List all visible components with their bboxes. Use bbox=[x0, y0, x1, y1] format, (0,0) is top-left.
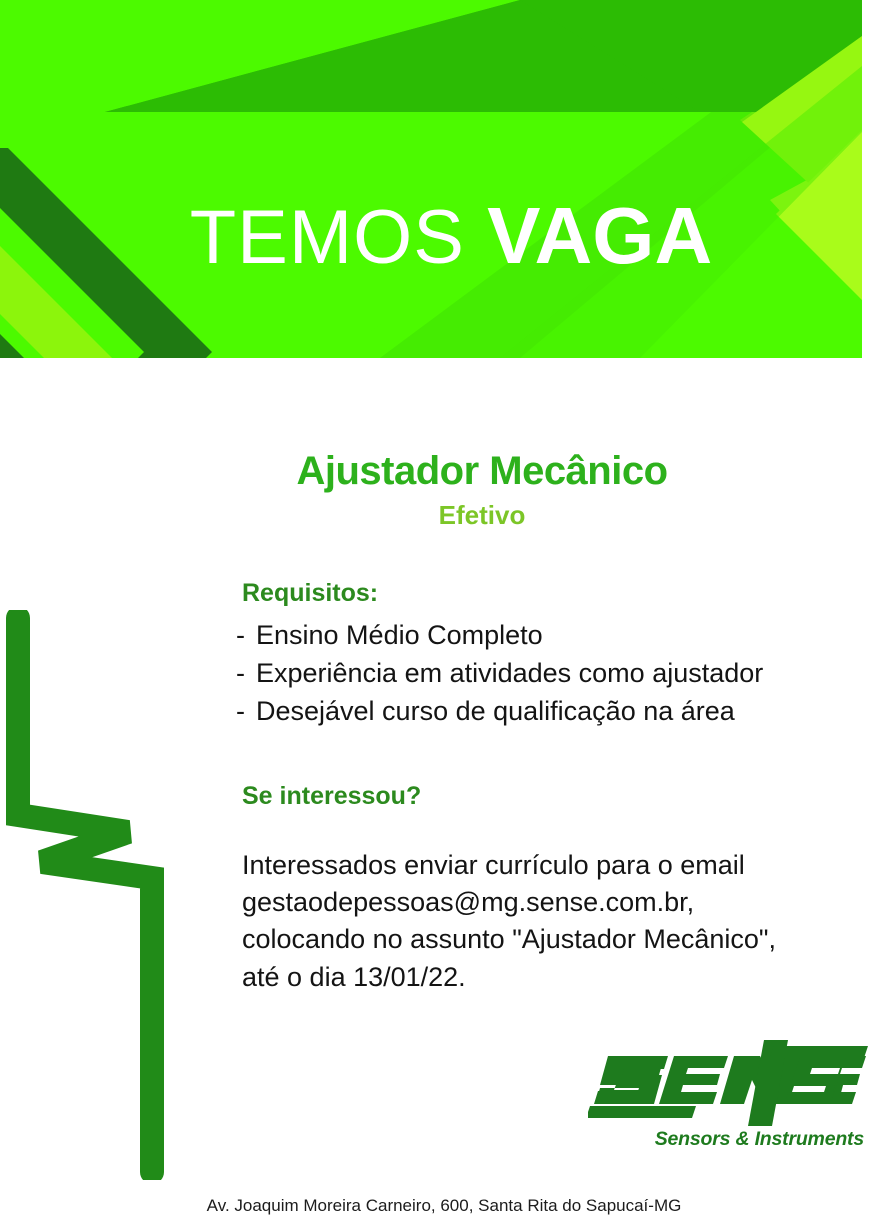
poster-content: Ajustador Mecânico Efetivo Requisitos: -… bbox=[236, 450, 888, 996]
header-geometric-background bbox=[0, 0, 862, 358]
headline-vaga: VAGA bbox=[487, 191, 712, 280]
footer-address: Av. Joaquim Moreira Carneiro, 600, Santa… bbox=[0, 1196, 888, 1216]
interest-heading: Se interessou? bbox=[236, 781, 888, 811]
sense-wordmark-icon bbox=[588, 1040, 868, 1126]
contact-email-line[interactable]: gestaodepessoas@mg.sense.com.br, bbox=[242, 884, 888, 921]
bullet-dash-icon: - bbox=[236, 654, 256, 692]
job-title: Ajustador Mecânico bbox=[236, 450, 888, 493]
sense-logo-tagline: Sensors & Instruments bbox=[588, 1128, 868, 1151]
header-banner: TEMOS VAGA bbox=[0, 0, 862, 358]
job-type: Efetivo bbox=[236, 501, 888, 530]
contact-line: Interessados enviar currículo para o ema… bbox=[242, 847, 888, 884]
bullet-dash-icon: - bbox=[236, 616, 256, 654]
header-headline: TEMOS VAGA bbox=[0, 196, 862, 276]
zigzag-path bbox=[18, 618, 152, 1172]
contact-instructions: Interessados enviar currículo para o ema… bbox=[236, 847, 888, 996]
requirements-heading: Requisitos: bbox=[236, 578, 888, 608]
headline-space bbox=[465, 195, 487, 280]
requirements-list: -Ensino Médio Completo -Experiência em a… bbox=[236, 616, 888, 731]
requirement-item: -Desejável curso de qualificação na área bbox=[236, 692, 888, 730]
requirement-text: Ensino Médio Completo bbox=[256, 620, 543, 650]
bullet-dash-icon: - bbox=[236, 692, 256, 730]
requirement-item: -Ensino Médio Completo bbox=[236, 616, 888, 654]
requirement-item: -Experiência em atividades como ajustado… bbox=[236, 654, 888, 692]
zigzag-signal-decoration bbox=[0, 610, 210, 1180]
headline-temos: TEMOS bbox=[190, 195, 465, 280]
requirement-text: Desejável curso de qualificação na área bbox=[256, 696, 735, 726]
contact-deadline-line: até o dia 13/01/22. bbox=[242, 959, 888, 996]
requirement-text: Experiência em atividades como ajustador bbox=[256, 658, 763, 688]
job-vacancy-poster: TEMOS VAGA Ajustador Mecânico Efetivo Re… bbox=[0, 0, 888, 1226]
contact-line: colocando no assunto "Ajustador Mecânico… bbox=[242, 921, 888, 958]
sense-logo: Sensors & Instruments bbox=[588, 1040, 868, 1151]
